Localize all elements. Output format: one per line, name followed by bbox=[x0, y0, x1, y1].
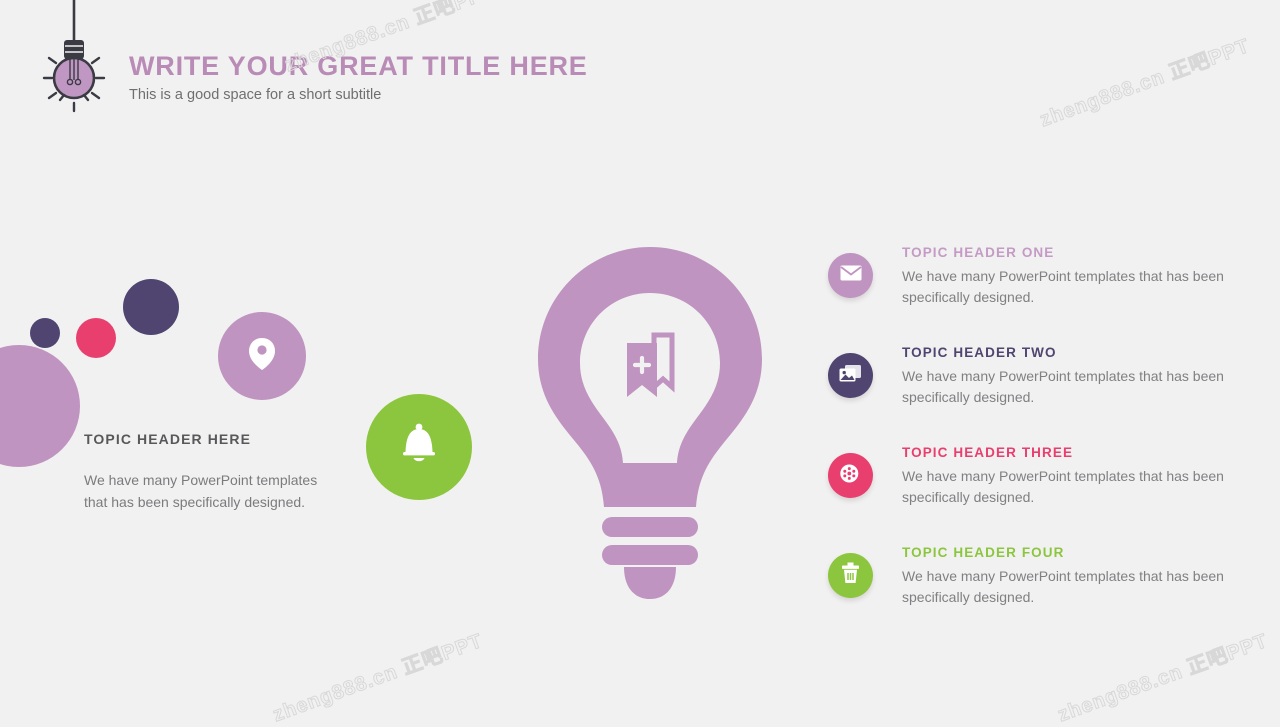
topic-item-one[interactable]: TOPIC HEADER ONE We have many PowerPoint… bbox=[828, 244, 1228, 344]
topic-title-one: TOPIC HEADER ONE bbox=[902, 244, 1232, 262]
center-lightbulb-graphic bbox=[524, 245, 776, 605]
location-pin-icon bbox=[247, 336, 277, 377]
watermark-2: zheng888.cn 正吧PPT bbox=[1035, 29, 1253, 132]
topic-badge-three[interactable] bbox=[828, 453, 873, 498]
page-subtitle: This is a good space for a short subtitl… bbox=[129, 85, 689, 105]
topic-badge-two[interactable] bbox=[828, 353, 873, 398]
topic-body-four: We have many PowerPoint templates that h… bbox=[902, 566, 1232, 607]
topic-badge-four[interactable] bbox=[828, 553, 873, 598]
trash-icon bbox=[841, 562, 860, 589]
left-text-block: TOPIC HEADER HERE We have many PowerPoin… bbox=[84, 430, 344, 513]
page-title: WRITE YOUR GREAT TITLE HERE bbox=[129, 50, 689, 82]
decorative-circle-pink bbox=[76, 318, 116, 358]
location-pin-badge[interactable] bbox=[218, 312, 306, 400]
topic-body-three: We have many PowerPoint templates that h… bbox=[902, 466, 1232, 507]
topic-body-one: We have many PowerPoint templates that h… bbox=[902, 266, 1232, 307]
topic-item-three[interactable]: TOPIC HEADER THREE We have many PowerPoi… bbox=[828, 444, 1228, 544]
slide-header: WRITE YOUR GREAT TITLE HERE This is a go… bbox=[0, 0, 700, 130]
hanging-lightbulb-icon bbox=[34, 0, 114, 115]
photos-icon bbox=[839, 364, 862, 388]
topic-body-two: We have many PowerPoint templates that h… bbox=[902, 366, 1232, 407]
topic-title-four: TOPIC HEADER FOUR bbox=[902, 544, 1232, 562]
topic-item-four[interactable]: TOPIC HEADER FOUR We have many PowerPoin… bbox=[828, 544, 1228, 644]
topic-title-two: TOPIC HEADER TWO bbox=[902, 344, 1232, 362]
topic-copy-three: TOPIC HEADER THREE We have many PowerPoi… bbox=[902, 444, 1232, 507]
left-decoration-cluster: TOPIC HEADER HERE We have many PowerPoin… bbox=[0, 230, 470, 560]
left-block-body: We have many PowerPoint templates that h… bbox=[84, 469, 344, 513]
left-block-title: TOPIC HEADER HERE bbox=[84, 430, 344, 448]
topic-copy-two: TOPIC HEADER TWO We have many PowerPoint… bbox=[902, 344, 1232, 407]
bell-badge[interactable] bbox=[366, 394, 472, 500]
topic-list: TOPIC HEADER ONE We have many PowerPoint… bbox=[828, 244, 1228, 644]
watermark-3: zheng888.cn 正吧PPT bbox=[268, 624, 486, 727]
bell-icon bbox=[398, 422, 440, 473]
topic-badge-one[interactable] bbox=[828, 253, 873, 298]
topic-copy-one: TOPIC HEADER ONE We have many PowerPoint… bbox=[902, 244, 1232, 307]
decorative-circle-navy-large bbox=[123, 279, 179, 335]
topic-title-three: TOPIC HEADER THREE bbox=[902, 444, 1232, 462]
decorative-circle-mauve-large bbox=[0, 345, 80, 467]
topic-item-two[interactable]: TOPIC HEADER TWO We have many PowerPoint… bbox=[828, 344, 1228, 444]
header-text-group: WRITE YOUR GREAT TITLE HERE This is a go… bbox=[129, 50, 689, 105]
film-reel-icon bbox=[839, 463, 863, 489]
decorative-circle-navy-small bbox=[30, 318, 60, 348]
topic-copy-four: TOPIC HEADER FOUR We have many PowerPoin… bbox=[902, 544, 1232, 607]
envelope-icon bbox=[840, 265, 862, 286]
slide-canvas: WRITE YOUR GREAT TITLE HERE This is a go… bbox=[0, 0, 1280, 720]
